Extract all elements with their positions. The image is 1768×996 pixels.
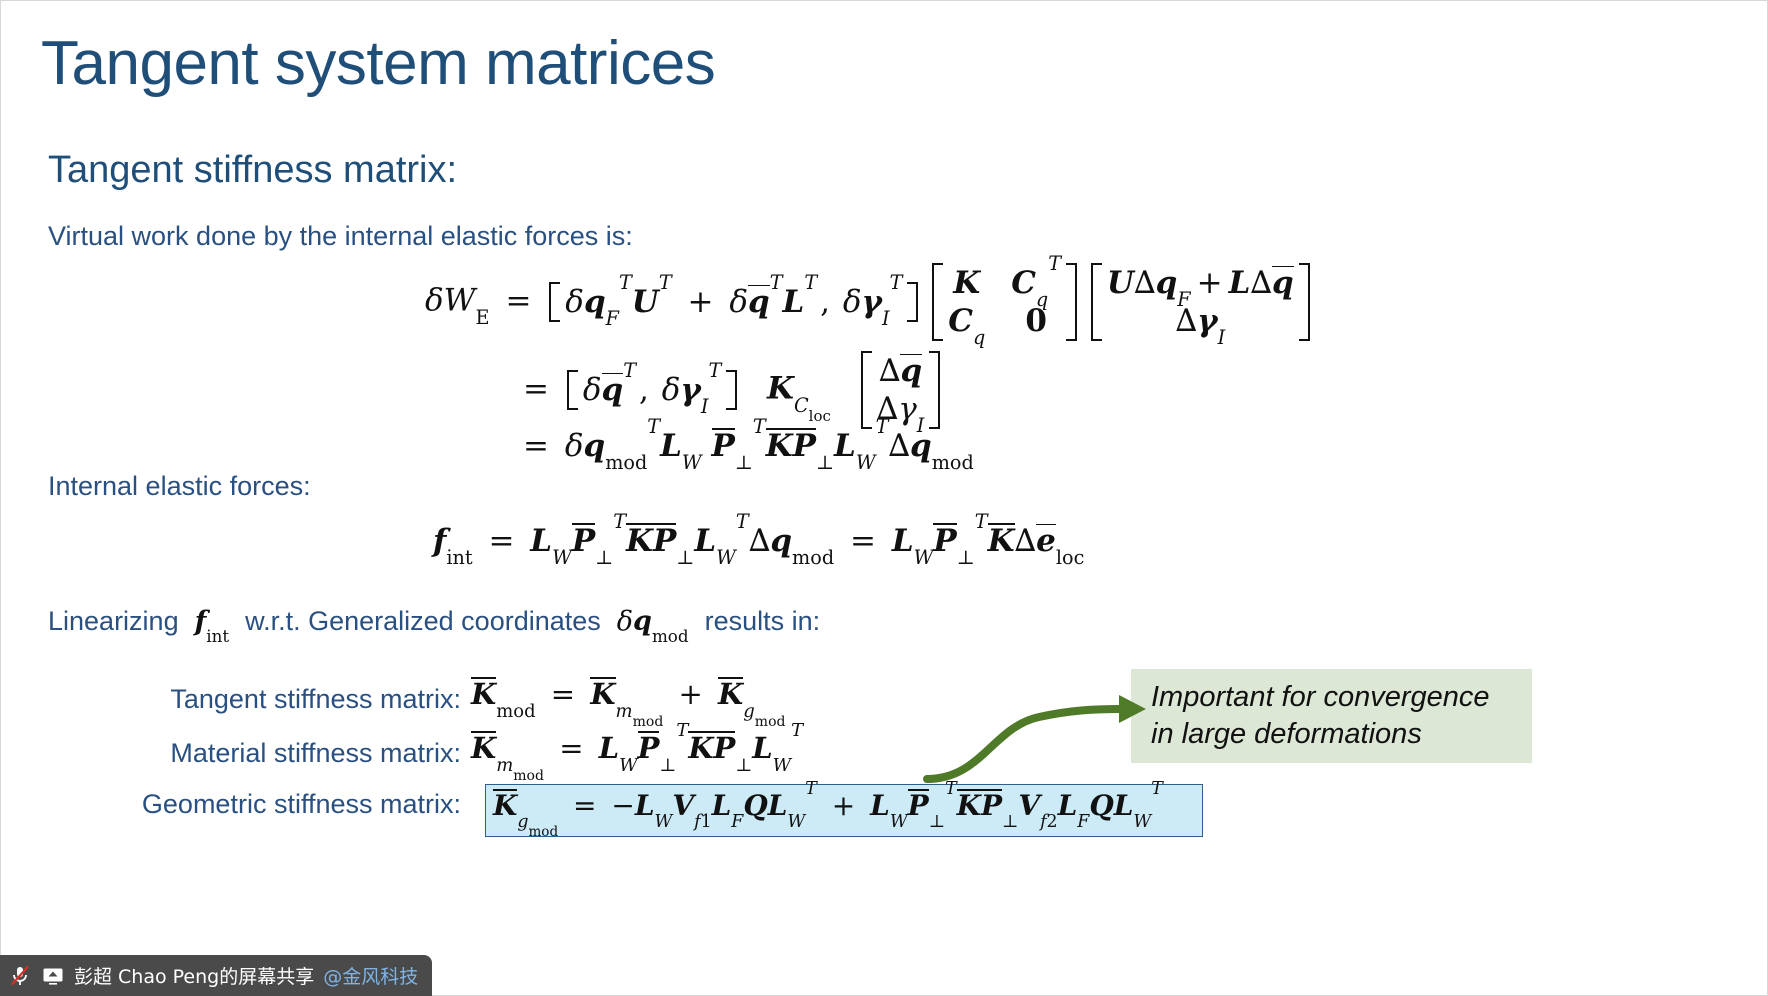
label-geometric-stiffness: Geometric stiffness matrix: — [61, 789, 461, 820]
equation-geometric-stiffness: Kgmod = −LWVf1LFQLWT + LWP⊥TKP⊥Vf2LFQLWT — [493, 789, 1163, 822]
slide-canvas: Tangent system matrices Tangent stiffnes… — [0, 0, 1768, 996]
linearizing-middle: w.r.t. Generalized coordinates — [245, 606, 601, 637]
internal-forces-label: Internal elastic forces: — [48, 471, 311, 502]
callout-line-1: Important for convergence — [1151, 679, 1531, 716]
callout-arrow-icon — [921, 691, 1161, 786]
share-organization: @金风科技 — [323, 962, 418, 989]
equation-tangent-stiffness: Kmod = Kmmod + Kgmod — [471, 677, 785, 711]
equation-material-stiffness: Kmmod = LWP⊥TKP⊥LWT — [471, 731, 803, 765]
microphone-muted-icon[interactable] — [8, 964, 32, 988]
equation-internal-forces: fint = LWP⊥TKP⊥LWT∆qmod = LWP⊥TK∆eloc — [433, 523, 1084, 559]
linearizing-suffix: results in: — [705, 606, 821, 637]
inline-math-dqmod: δqmod — [617, 606, 689, 637]
linearizing-prefix: Linearizing — [48, 606, 179, 637]
linearizing-label: Linearizing fint w.r.t. Generalized coor… — [48, 606, 820, 637]
label-tangent-stiffness: Tangent stiffness matrix: — [61, 684, 461, 715]
equation-virtual-work-line3: = δqmodTLW P⊥TKP⊥LWT∆qmod — [517, 428, 974, 464]
page-title: Tangent system matrices — [41, 31, 715, 96]
screen-share-status-bar[interactable]: 彭超 Chao Peng的屏幕共享 @金风科技 — [0, 955, 432, 996]
section-heading: Tangent stiffness matrix: — [48, 149, 457, 192]
virtual-work-label: Virtual work done by the internal elasti… — [48, 221, 633, 252]
screen-share-icon[interactable] — [41, 964, 65, 988]
share-presenter-name: 彭超 Chao Peng的屏幕共享 — [74, 962, 314, 989]
equation-virtual-work-line1: δWE = δqFTUT + δqTLT, δγIT KCqT Cq0 — [425, 263, 1312, 341]
label-material-stiffness: Material stiffness matrix: — [61, 738, 461, 769]
callout-text: Important for convergence in large defor… — [1151, 679, 1531, 753]
inline-math-fint: fint — [195, 606, 229, 637]
callout-line-2: in large deformations — [1151, 716, 1531, 753]
